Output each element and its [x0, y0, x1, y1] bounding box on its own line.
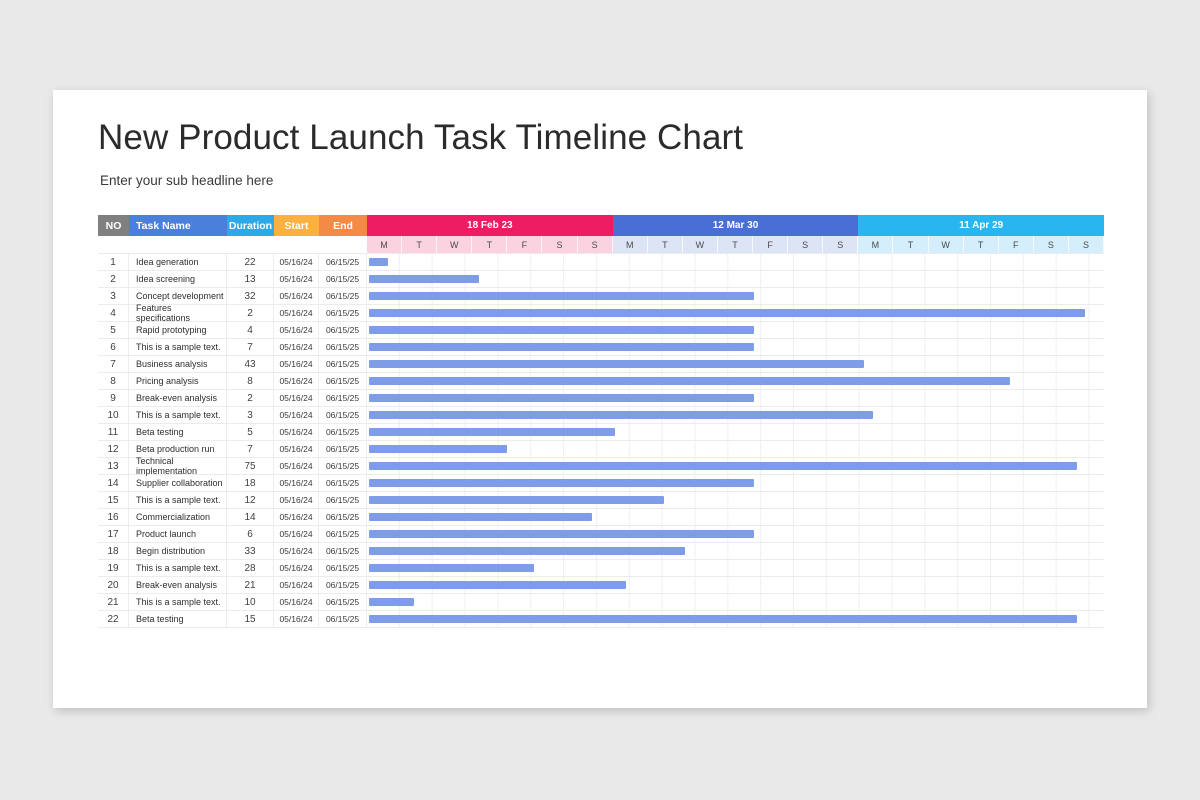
cell-no: 10 [98, 407, 129, 423]
day-cell-2-3: W [683, 236, 718, 253]
cell-end: 06/15/25 [319, 509, 367, 525]
cell-start: 05/16/24 [274, 271, 319, 287]
table-row[interactable]: 1Idea generation2205/16/2406/15/25 [98, 253, 1104, 271]
table-row[interactable]: 16Commercialization1405/16/2406/15/25 [98, 509, 1104, 526]
cell-end: 06/15/25 [319, 611, 367, 627]
cell-no: 1 [98, 254, 129, 270]
cell-start: 05/16/24 [274, 526, 319, 542]
table-row[interactable]: 7Business analysis4305/16/2406/15/25 [98, 356, 1104, 373]
cell-task-name: Rapid prototyping [129, 322, 227, 338]
table-row[interactable]: 2Idea screening1305/16/2406/15/25 [98, 271, 1104, 288]
gantt-bar[interactable] [369, 598, 414, 606]
cell-no: 19 [98, 560, 129, 576]
table-row[interactable]: 17Product launch605/16/2406/15/25 [98, 526, 1104, 543]
timeline-track [367, 475, 1104, 491]
timeline-track [367, 543, 1104, 559]
cell-no: 18 [98, 543, 129, 559]
cell-duration: 13 [227, 271, 274, 287]
day-header-spacer [98, 236, 367, 253]
cell-task-name: Supplier collaboration [129, 475, 227, 491]
cell-no: 9 [98, 390, 129, 406]
cell-end: 06/15/25 [319, 322, 367, 338]
day-cell-1-7: S [578, 236, 613, 253]
gantt-bar[interactable] [369, 547, 685, 555]
cell-no: 21 [98, 594, 129, 610]
cell-duration: 8 [227, 373, 274, 389]
gantt-bar[interactable] [369, 343, 754, 351]
cell-end: 06/15/25 [319, 356, 367, 372]
cell-duration: 6 [227, 526, 274, 542]
cell-end: 06/15/25 [319, 254, 367, 270]
timeline-track [367, 373, 1104, 389]
gantt-bar[interactable] [369, 445, 507, 453]
cell-task-name: Technical implementation [129, 458, 227, 474]
cell-start: 05/16/24 [274, 458, 319, 474]
cell-no: 7 [98, 356, 129, 372]
gantt-bar[interactable] [369, 394, 754, 402]
table-row[interactable]: 13Technical implementation7505/16/2406/1… [98, 458, 1104, 475]
gantt-bar[interactable] [369, 496, 664, 504]
day-cell-1-4: T [472, 236, 507, 253]
cell-duration: 28 [227, 560, 274, 576]
cell-duration: 7 [227, 441, 274, 457]
gantt-bar[interactable] [369, 479, 754, 487]
cell-task-name: Beta testing [129, 611, 227, 627]
period-header-3: 11 Apr 29 [858, 215, 1104, 236]
table-row[interactable]: 8Pricing analysis805/16/2406/15/25 [98, 373, 1104, 390]
day-cell-2-1: M [613, 236, 648, 253]
day-header-row: MTWTFSS MTWTFSS MTWTFSS [98, 236, 1104, 253]
cell-start: 05/16/24 [274, 509, 319, 525]
gantt-bar[interactable] [369, 462, 1077, 470]
cell-duration: 10 [227, 594, 274, 610]
cell-no: 22 [98, 611, 129, 627]
cell-start: 05/16/24 [274, 356, 319, 372]
day-group-2: MTWTFSS [613, 236, 859, 253]
timeline-track [367, 441, 1104, 457]
gantt-bar[interactable] [369, 564, 534, 572]
cell-task-name: Break-even analysis [129, 577, 227, 593]
cell-no: 15 [98, 492, 129, 508]
day-cell-3-6: S [1034, 236, 1069, 253]
cell-start: 05/16/24 [274, 560, 319, 576]
table-header-row: NO Task Name Duration Start End 18 Feb 2… [98, 215, 1104, 236]
gantt-bar[interactable] [369, 428, 615, 436]
day-cell-2-2: T [648, 236, 683, 253]
day-group-3: MTWTFSS [858, 236, 1104, 253]
cell-duration: 33 [227, 543, 274, 559]
timeline-track [367, 322, 1104, 338]
timeline-track [367, 305, 1104, 321]
cell-task-name: This is a sample text. [129, 560, 227, 576]
cell-end: 06/15/25 [319, 373, 367, 389]
cell-end: 06/15/25 [319, 475, 367, 491]
gantt-bar[interactable] [369, 326, 754, 334]
cell-no: 20 [98, 577, 129, 593]
day-group-1: MTWTFSS [367, 236, 613, 253]
day-cell-3-4: T [964, 236, 999, 253]
cell-start: 05/16/24 [274, 305, 319, 321]
gantt-bar[interactable] [369, 275, 479, 283]
task-rows: 1Idea generation2205/16/2406/15/252Idea … [98, 253, 1104, 628]
cell-task-name: Features specifications [129, 305, 227, 321]
day-cell-3-3: W [929, 236, 964, 253]
cell-duration: 4 [227, 322, 274, 338]
cell-start: 05/16/24 [274, 339, 319, 355]
cell-end: 06/15/25 [319, 305, 367, 321]
cell-end: 06/15/25 [319, 424, 367, 440]
gantt-bar[interactable] [369, 513, 592, 521]
timeline-track [367, 390, 1104, 406]
table-row[interactable]: 6This is a sample text.705/16/2406/15/25 [98, 339, 1104, 356]
header-start: Start [274, 215, 319, 236]
cell-end: 06/15/25 [319, 560, 367, 576]
day-cell-2-6: S [788, 236, 823, 253]
table-row[interactable]: 3Concept development3205/16/2406/15/25 [98, 288, 1104, 305]
cell-task-name: Concept development [129, 288, 227, 304]
cell-duration: 43 [227, 356, 274, 372]
cell-end: 06/15/25 [319, 543, 367, 559]
table-row[interactable]: 19This is a sample text.2805/16/2406/15/… [98, 560, 1104, 577]
period-header-2: 12 Mar 30 [613, 215, 859, 236]
cell-start: 05/16/24 [274, 492, 319, 508]
timeline-track [367, 509, 1104, 525]
cell-task-name: Idea screening [129, 271, 227, 287]
cell-duration: 32 [227, 288, 274, 304]
cell-start: 05/16/24 [274, 543, 319, 559]
page-subtitle: Enter your sub headline here [100, 173, 273, 188]
timeline-track [367, 271, 1104, 287]
cell-no: 12 [98, 441, 129, 457]
table-row[interactable]: 21This is a sample text.1005/16/2406/15/… [98, 594, 1104, 611]
cell-no: 2 [98, 271, 129, 287]
cell-start: 05/16/24 [274, 390, 319, 406]
cell-task-name: Idea generation [129, 254, 227, 270]
cell-end: 06/15/25 [319, 441, 367, 457]
cell-start: 05/16/24 [274, 475, 319, 491]
cell-end: 06/15/25 [319, 288, 367, 304]
cell-start: 05/16/24 [274, 407, 319, 423]
gantt-bar[interactable] [369, 530, 754, 538]
cell-duration: 7 [227, 339, 274, 355]
gantt-bar[interactable] [369, 411, 873, 419]
cell-end: 06/15/25 [319, 271, 367, 287]
cell-end: 06/15/25 [319, 458, 367, 474]
cell-no: 8 [98, 373, 129, 389]
gantt-bar[interactable] [369, 292, 754, 300]
cell-task-name: This is a sample text. [129, 492, 227, 508]
cell-task-name: Commercialization [129, 509, 227, 525]
table-row[interactable]: 20Break-even analysis2105/16/2406/15/25 [98, 577, 1104, 594]
cell-end: 06/15/25 [319, 390, 367, 406]
gantt-bar[interactable] [369, 581, 626, 589]
cell-start: 05/16/24 [274, 577, 319, 593]
day-cell-1-3: W [437, 236, 472, 253]
gantt-bar[interactable] [369, 360, 864, 368]
cell-duration: 75 [227, 458, 274, 474]
timeline-track [367, 339, 1104, 355]
cell-start: 05/16/24 [274, 254, 319, 270]
cell-end: 06/15/25 [319, 407, 367, 423]
cell-start: 05/16/24 [274, 288, 319, 304]
header-end: End [319, 215, 367, 236]
slide-canvas: New Product Launch Task Timeline Chart E… [53, 90, 1147, 708]
cell-end: 06/15/25 [319, 492, 367, 508]
cell-no: 3 [98, 288, 129, 304]
cell-task-name: Beta production run [129, 441, 227, 457]
timeline-track [367, 288, 1104, 304]
cell-duration: 2 [227, 305, 274, 321]
cell-task-name: This is a sample text. [129, 407, 227, 423]
cell-start: 05/16/24 [274, 441, 319, 457]
cell-no: 13 [98, 458, 129, 474]
cell-duration: 22 [227, 254, 274, 270]
timeline-track [367, 407, 1104, 423]
day-cell-3-1: M [858, 236, 893, 253]
cell-no: 16 [98, 509, 129, 525]
cell-duration: 12 [227, 492, 274, 508]
timeline-track [367, 424, 1104, 440]
header-duration: Duration [227, 215, 274, 236]
cell-task-name: Pricing analysis [129, 373, 227, 389]
cell-duration: 15 [227, 611, 274, 627]
table-row[interactable]: 10This is a sample text.305/16/2406/15/2… [98, 407, 1104, 424]
gantt-bar[interactable] [369, 615, 1077, 623]
cell-task-name: Business analysis [129, 356, 227, 372]
timeline-track [367, 560, 1104, 576]
page-title: New Product Launch Task Timeline Chart [98, 118, 743, 158]
cell-duration: 5 [227, 424, 274, 440]
timeline-track [367, 577, 1104, 593]
cell-no: 14 [98, 475, 129, 491]
cell-start: 05/16/24 [274, 373, 319, 389]
table-row[interactable]: 22Beta testing1505/16/2406/15/25 [98, 611, 1104, 628]
gantt-chart: NO Task Name Duration Start End 18 Feb 2… [98, 215, 1104, 628]
cell-no: 17 [98, 526, 129, 542]
timeline-track [367, 594, 1104, 610]
day-cell-2-7: S [823, 236, 858, 253]
day-cell-1-1: M [367, 236, 402, 253]
table-row[interactable]: 14Supplier collaboration1805/16/2406/15/… [98, 475, 1104, 492]
cell-no: 11 [98, 424, 129, 440]
cell-no: 4 [98, 305, 129, 321]
cell-task-name: Break-even analysis [129, 390, 227, 406]
table-row[interactable]: 5Rapid prototyping405/16/2406/15/25 [98, 322, 1104, 339]
day-cell-3-5: F [999, 236, 1034, 253]
header-task-name: Task Name [129, 215, 227, 236]
cell-start: 05/16/24 [274, 424, 319, 440]
cell-duration: 21 [227, 577, 274, 593]
cell-duration: 18 [227, 475, 274, 491]
cell-end: 06/15/25 [319, 526, 367, 542]
cell-task-name: Beta testing [129, 424, 227, 440]
cell-no: 5 [98, 322, 129, 338]
day-cell-1-2: T [402, 236, 437, 253]
timeline-track [367, 254, 1104, 270]
table-row[interactable]: 15This is a sample text.1205/16/2406/15/… [98, 492, 1104, 509]
table-row[interactable]: 9Break-even analysis205/16/2406/15/25 [98, 390, 1104, 407]
gantt-bar[interactable] [369, 309, 1085, 317]
cell-end: 06/15/25 [319, 577, 367, 593]
cell-no: 6 [98, 339, 129, 355]
timeline-track [367, 492, 1104, 508]
gantt-bar[interactable] [369, 377, 1010, 385]
cell-task-name: This is a sample text. [129, 339, 227, 355]
cell-start: 05/16/24 [274, 594, 319, 610]
period-header-1: 18 Feb 23 [367, 215, 613, 236]
timeline-track [367, 356, 1104, 372]
cell-end: 06/15/25 [319, 594, 367, 610]
day-cell-3-7: S [1069, 236, 1104, 253]
timeline-track [367, 611, 1104, 627]
day-cell-2-5: F [753, 236, 788, 253]
day-cell-1-6: S [542, 236, 577, 253]
timeline-track [367, 526, 1104, 542]
timeline-track [367, 458, 1104, 474]
table-row[interactable]: 12Beta production run705/16/2406/15/25 [98, 441, 1104, 458]
gantt-bar[interactable] [369, 258, 388, 266]
cell-duration: 3 [227, 407, 274, 423]
day-cell-2-4: T [718, 236, 753, 253]
table-row[interactable]: 11Beta testing505/16/2406/15/25 [98, 424, 1104, 441]
day-cell-1-5: F [507, 236, 542, 253]
table-row[interactable]: 4Features specifications205/16/2406/15/2… [98, 305, 1104, 322]
cell-task-name: Product launch [129, 526, 227, 542]
cell-task-name: This is a sample text. [129, 594, 227, 610]
header-no: NO [98, 215, 129, 236]
cell-duration: 2 [227, 390, 274, 406]
day-cell-3-2: T [893, 236, 928, 253]
cell-end: 06/15/25 [319, 339, 367, 355]
cell-start: 05/16/24 [274, 322, 319, 338]
table-row[interactable]: 18Begin distribution3305/16/2406/15/25 [98, 543, 1104, 560]
cell-start: 05/16/24 [274, 611, 319, 627]
cell-task-name: Begin distribution [129, 543, 227, 559]
cell-duration: 14 [227, 509, 274, 525]
